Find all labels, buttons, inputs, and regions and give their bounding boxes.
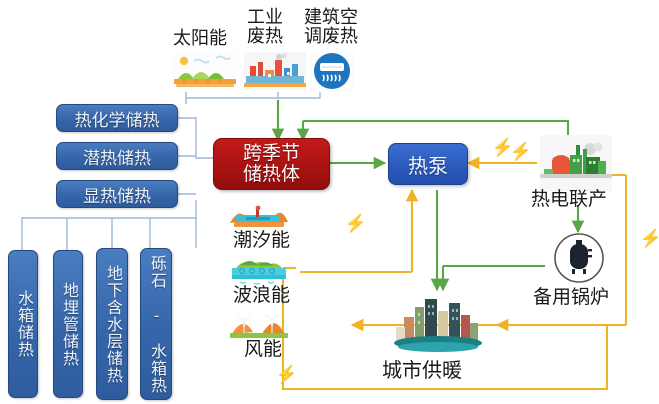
wave-energy-icon [228,256,290,286]
city-skyline-icon [390,293,486,353]
city-heating-label: 城市供暖 [382,361,462,382]
storage-type-thermochemical-label: 热化学储热 [75,106,160,131]
factory-icon [244,52,306,90]
electricity-bolt-icon-renewables-to-pump: ⚡ [345,215,366,232]
storage-method-water-tank-label: 水箱储热 [11,290,35,358]
renewable-label-wave: 波浪能 [233,286,290,306]
storage-method-gravel-water-label: 砾石 - 水箱热 [144,255,168,394]
building-ac-line2: 调废热 [304,27,358,46]
storage-type-latent[interactable]: 潜热储热 [56,142,178,170]
electricity-bolt-icon-grid-right: ⚡ [640,230,659,247]
seasonal-storage-line1: 跨季节 [243,143,300,164]
source-label-industrial-waste-heat: 工业 废热 [247,8,283,46]
storage-type-thermochemical[interactable]: 热化学储热 [56,104,178,132]
power-plant-icon [540,135,612,191]
building-ac-line1: 建筑空 [304,8,358,27]
storage-method-aquifer[interactable]: 地下含水层储热 [96,248,128,400]
chp-plant-label: 热电联产 [531,190,607,210]
diagram-canvas: .g{stroke:#5aa544;stroke-width:2.1;fill:… [0,0,659,404]
source-label-solar: 太阳能 [173,29,227,48]
storage-method-borehole[interactable]: 地埋管储热 [53,250,83,398]
storage-type-sensible[interactable]: 显热储热 [56,180,178,208]
storage-method-borehole-label: 地埋管储热 [56,282,80,367]
wind-energy-icon [228,310,290,340]
storage-method-water-tank[interactable]: 水箱储热 [8,250,38,398]
air-conditioner-icon [310,50,354,92]
heat-pump-box[interactable]: 热泵 [388,143,468,185]
heat-pump-label: 热泵 [408,150,448,179]
electricity-bolt-icon-bottom-bus: ⚡ [276,366,297,383]
seasonal-heat-storage-box[interactable]: 跨季节 储热体 [213,138,330,190]
storage-method-aquifer-label: 地下含水层储热 [100,265,124,384]
storage-type-sensible-label: 显热储热 [83,182,151,207]
source-label-building-ac-waste-heat: 建筑空 调废热 [304,8,358,46]
boiler-tank-icon [551,231,607,287]
storage-type-latent-label: 潜热储热 [83,144,151,169]
renewable-label-wind: 风能 [244,340,282,360]
storage-method-gravel-water[interactable]: 砾石 - 水箱热 [140,248,172,400]
industrial-waste-heat-line1: 工业 [247,8,283,27]
tidal-energy-icon [228,201,290,231]
industrial-waste-heat-line2: 废热 [247,27,283,46]
seasonal-storage-line2: 储热体 [243,164,300,185]
renewable-label-tidal: 潮汐能 [233,231,290,251]
backup-boiler-label: 备用锅炉 [533,288,609,308]
electricity-bolt-icon-chp-top-left: ⚡ [510,143,531,160]
solar-panel-icon [172,52,238,90]
